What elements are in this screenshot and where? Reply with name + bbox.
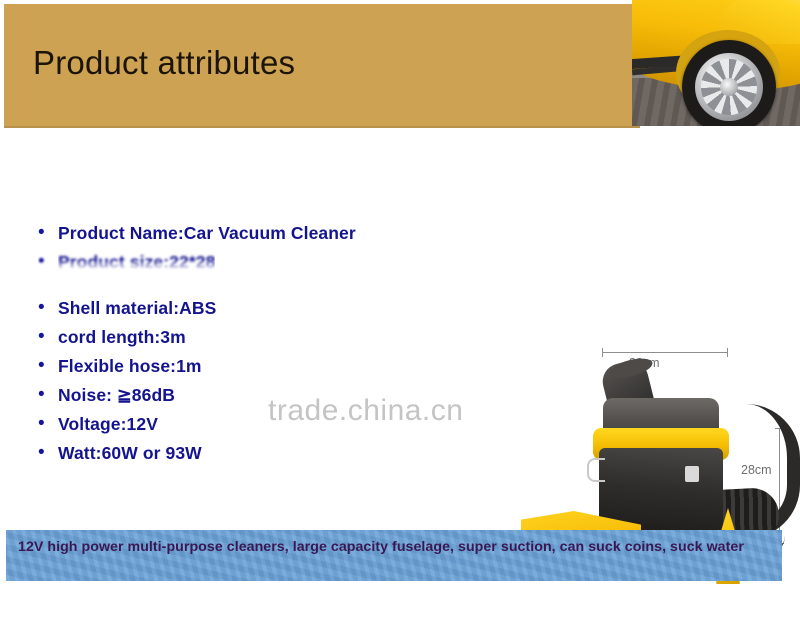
attribute-product-name: Product Name:Car Vacuum Cleaner (58, 220, 356, 246)
list-item: • cord length:3m (38, 324, 468, 353)
bullet-icon: • (38, 249, 58, 275)
attribute-noise: Noise: ≧86dB (58, 382, 175, 408)
attribute-watt: Watt:60W or 93W (58, 440, 202, 466)
width-dimension-line (602, 352, 728, 353)
bullet-icon: • (38, 411, 58, 437)
product-photo: 23cm 28cm (509, 340, 800, 635)
attribute-product-size: Product size:22*28 (58, 249, 215, 275)
attribute-list: • Product Name:Car Vacuum Cleaner • Prod… (38, 220, 468, 469)
vacuum-latch-clip (587, 458, 605, 482)
bullet-icon: • (38, 353, 58, 379)
car-photo-rim (695, 53, 763, 121)
slide-body: • Product Name:Car Vacuum Cleaner • Prod… (4, 128, 796, 523)
watermark: trade.china.cn (268, 394, 463, 428)
attribute-flexible-hose: Flexible hose:1m (58, 353, 202, 379)
list-item: • Shell material:ABS (38, 295, 468, 324)
list-item: • Product Name:Car Vacuum Cleaner (38, 220, 468, 249)
list-item: • Product size:22*28 (38, 249, 468, 295)
list-item: • Watt:60W or 93W (38, 440, 468, 469)
list-item: • Flexible hose:1m (38, 353, 468, 382)
product-attributes-slide: Product attributes • Product Name:Car Va… (0, 0, 800, 599)
vacuum-latch (685, 466, 699, 482)
bottom-banner-text: 12V high power multi-purpose cleaners, l… (18, 537, 770, 557)
bullet-icon: • (38, 220, 58, 246)
attribute-cord-length: cord length:3m (58, 324, 186, 350)
bullet-icon: • (38, 440, 58, 466)
bullet-icon: • (38, 324, 58, 350)
car-photo (632, 0, 800, 126)
bullet-icon: • (38, 382, 58, 408)
car-photo-hub (720, 78, 738, 96)
attribute-voltage: Voltage:12V (58, 411, 158, 437)
bullet-icon: • (38, 295, 58, 321)
bottom-banner: 12V high power multi-purpose cleaners, l… (6, 530, 782, 581)
page-title: Product attributes (33, 44, 295, 82)
attribute-shell-material: Shell material:ABS (58, 295, 216, 321)
